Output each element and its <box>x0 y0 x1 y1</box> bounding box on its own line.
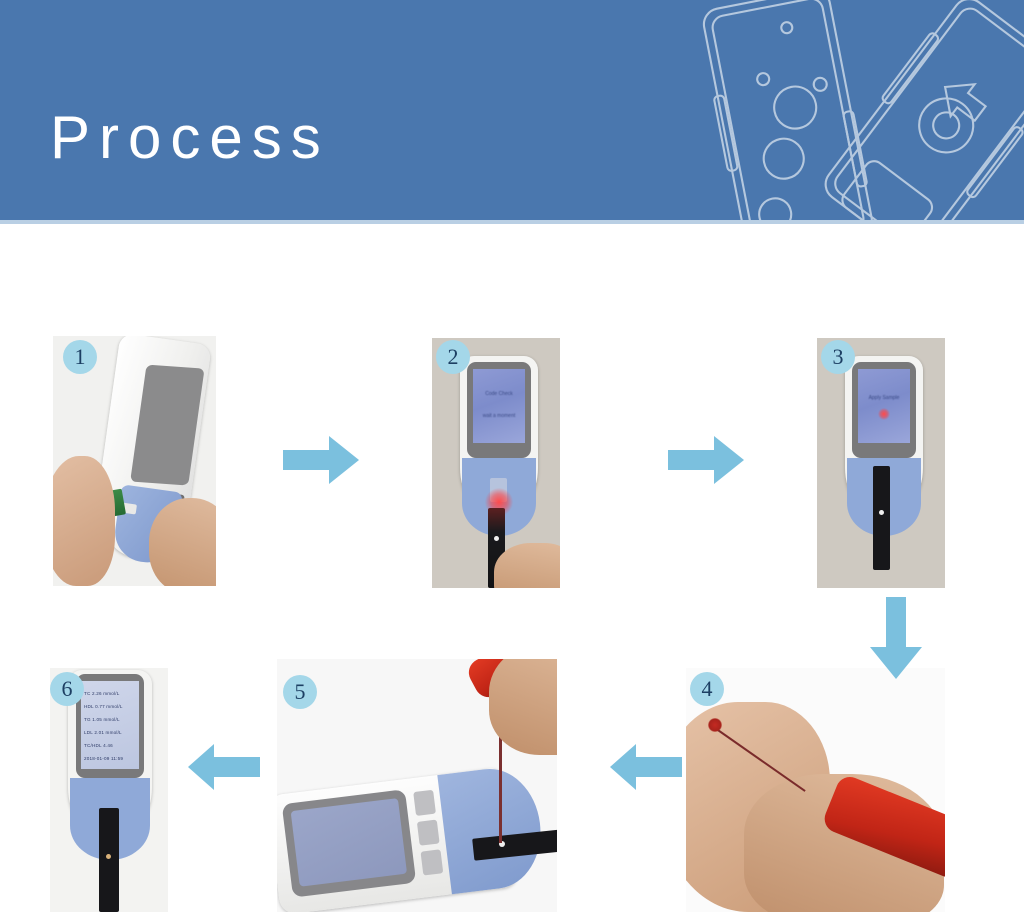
step-badge-1: 1 <box>63 340 97 374</box>
arrow-step5-to-step6-icon <box>186 742 262 792</box>
meter-button <box>421 849 444 875</box>
meter-screen <box>291 798 407 887</box>
screen-line-1: Code Check <box>473 391 525 397</box>
step-badge-2: 2 <box>436 340 470 374</box>
arrow-step4-to-step5-icon <box>608 742 684 792</box>
meter-button <box>417 820 440 846</box>
test-strip <box>99 808 119 912</box>
device-line-art-icon <box>664 0 1024 220</box>
strip-hole <box>879 510 884 515</box>
result-timestamp: 2018-01-09 11:59 <box>84 752 123 765</box>
step-5-photo: 5 <box>277 659 557 912</box>
step-badge-3: 3 <box>821 340 855 374</box>
strip-hole <box>494 536 499 541</box>
process-infographic: Process 1 Code Che <box>0 0 1024 919</box>
test-strip <box>873 466 890 570</box>
result-line: HDL 0.77 mmol/L <box>84 700 123 713</box>
arrow-step2-to-step3-icon <box>666 434 746 486</box>
hand-left <box>53 456 115 586</box>
hand-right <box>149 498 216 586</box>
step-badge-4: 4 <box>690 672 724 706</box>
result-line: TC 2.26 mmol/L <box>84 687 123 700</box>
arrow-step1-to-step2-icon <box>281 434 361 486</box>
step-6-photo: TC 2.26 mmol/L HDL 0.77 mmol/L TG 1.05 m… <box>50 668 168 912</box>
step-4-photo: 4 <box>686 668 945 912</box>
header-underline <box>0 220 1024 224</box>
screen-line-2: wait a moment <box>473 413 525 419</box>
result-line: TC/HDL 4.46 <box>84 739 123 752</box>
strip-hole <box>106 854 111 859</box>
page-title: Process <box>50 108 330 168</box>
step-1-photo: 1 <box>53 336 216 586</box>
result-line: TG 1.05 mmol/L <box>84 713 123 726</box>
header-banner: Process <box>0 0 1024 220</box>
screen-red-dot <box>878 408 890 420</box>
step-badge-5: 5 <box>283 675 317 709</box>
meter-lower-body <box>437 763 547 894</box>
meter-button <box>413 790 436 816</box>
step-badge-6: 6 <box>50 672 84 706</box>
step-2-photo: Code Check wait a moment 2 <box>432 338 560 588</box>
screen-line-1: Apply Sample <box>858 395 910 401</box>
result-line: LDL 2.01 mmol/L <box>84 726 123 739</box>
meter-screen: Apply Sample <box>858 369 910 443</box>
arrow-step3-to-step4-icon <box>868 595 924 681</box>
blood-drop <box>708 718 722 732</box>
step-3-photo: Apply Sample 3 <box>817 338 945 588</box>
meter-results-screen: TC 2.26 mmol/L HDL 0.77 mmol/L TG 1.05 m… <box>81 681 139 769</box>
meter-screen: Code Check wait a moment <box>473 369 525 443</box>
